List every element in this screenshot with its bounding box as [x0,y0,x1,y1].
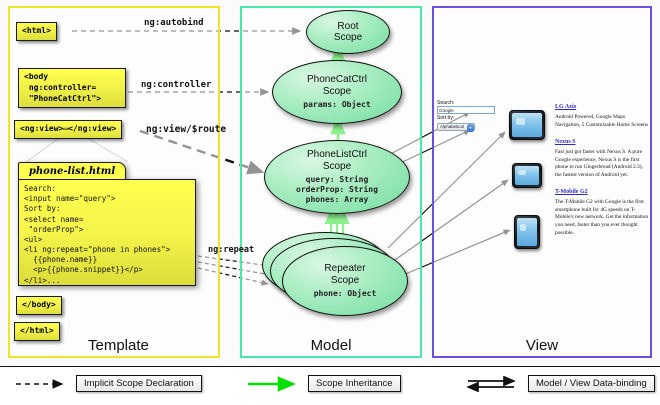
phone-shell [509,110,545,140]
order-select[interactable]: Alphabetical ▾ [437,123,475,131]
panel-view-label: View [434,337,650,354]
list-item: T-Mobile G2 The T-Mobile G2 with Google … [555,189,649,238]
legend-item-scope-inheritance: Scope Inheritance [246,375,401,392]
phone-thumbnail-1 [509,110,545,140]
legend-label-implicit-scope: Implicit Scope Declaration [76,375,202,392]
solid-arrow-icon [246,376,302,392]
double-arrow-icon [466,376,522,392]
scope-phonecatctrl-props: params: Object [303,100,370,110]
template-file-code: Search: <input name="query"> Sort by: <s… [24,184,190,286]
phone-snippet: Fast just got faster with Nexus S. A pur… [555,149,649,180]
phone-screen [517,218,537,246]
phone-thumbnail-3 [514,215,540,249]
edge-label-ng-view-route: ng:view/$route [146,124,226,135]
scope-phonecatctrl: PhoneCatCtrl Scope params: Object [272,60,402,124]
tag-html-close: </html> [14,322,60,341]
phone-snippet: The T-Mobile G2 with Google is the first… [555,199,649,237]
tag-body-close: </body> [16,296,62,315]
phone-snippet: Android Powered, Google Maps Navigation,… [555,114,649,129]
legend-label-scope-inheritance: Scope Inheritance [308,375,401,392]
scope-phonecatctrl-title: PhoneCatCtrl Scope [307,74,367,96]
tag-body-open: <body ng:controller= "PhoneCatCtrl"> [18,68,126,108]
phone-screen [512,113,542,137]
diagram-root: Template Model View <html> <body ng:cont… [0,0,660,405]
scope-repeater-props: phone: Object [314,289,377,299]
legend: Implicit Scope Declaration Scope Inherit… [0,366,660,405]
order-select-value: Alphabetical [440,124,464,129]
scope-phonelistctrl-props: query: String orderProp: String phones: … [296,175,378,205]
phone-name-link[interactable]: T-Mobile G2 [555,189,649,197]
chevron-down-icon: ▾ [467,124,474,132]
phone-shell [512,163,542,188]
tag-html-open: <html> [16,22,57,41]
scope-root: Root Scope [306,10,390,54]
phone-screen [515,166,539,185]
phone-shell [514,215,540,249]
edge-label-ng-controller: ng:controller [141,80,211,90]
panel-model-label: Model [242,337,420,354]
template-file-callout: phone-list.html Search: <input name="que… [18,162,196,286]
list-item: LG Axis Android Powered, Google Maps Nav… [555,104,649,130]
scope-phonelistctrl: PhoneListCtrl Scope query: String orderP… [264,140,410,214]
scope-root-title: Root Scope [334,21,362,43]
template-file-body: Search: <input name="query"> Sort by: <s… [18,179,196,286]
phone-name-link[interactable]: Nexus S [555,139,649,147]
template-file-name: phone-list.html [18,162,126,180]
dashed-arrow-icon [14,376,70,392]
scope-repeater-title: Repeater Scope [324,263,365,285]
search-input[interactable]: Google [437,106,495,114]
scope-repeater-stack: Repeater Scope phone: Object [262,232,412,322]
sort-label: Sort by: [437,115,499,121]
legend-item-data-binding: Model / View Data-binding [466,375,655,392]
scope-phonelistctrl-title: PhoneListCtrl Scope [307,149,367,171]
legend-label-data-binding: Model / View Data-binding [528,375,655,392]
list-item: Nexus S Fast just got faster with Nexus … [555,139,649,180]
legend-item-implicit-scope: Implicit Scope Declaration [14,375,202,392]
phone-thumbnail-2 [512,163,542,188]
edge-label-ng-autobind: ng:autobind [144,18,204,28]
tag-ng-view: <ng:view>▭</ng:view> [14,120,122,139]
view-search-widget: Search: Google Sort by: Alphabetical ▾ [437,100,499,131]
view-phone-list: LG Axis Android Powered, Google Maps Nav… [555,104,649,246]
edge-label-ng-repeat: ng:repeat [208,245,254,255]
phone-name-link[interactable]: LG Axis [555,104,649,112]
scope-repeater-front: Repeater Scope phone: Object [282,246,408,316]
